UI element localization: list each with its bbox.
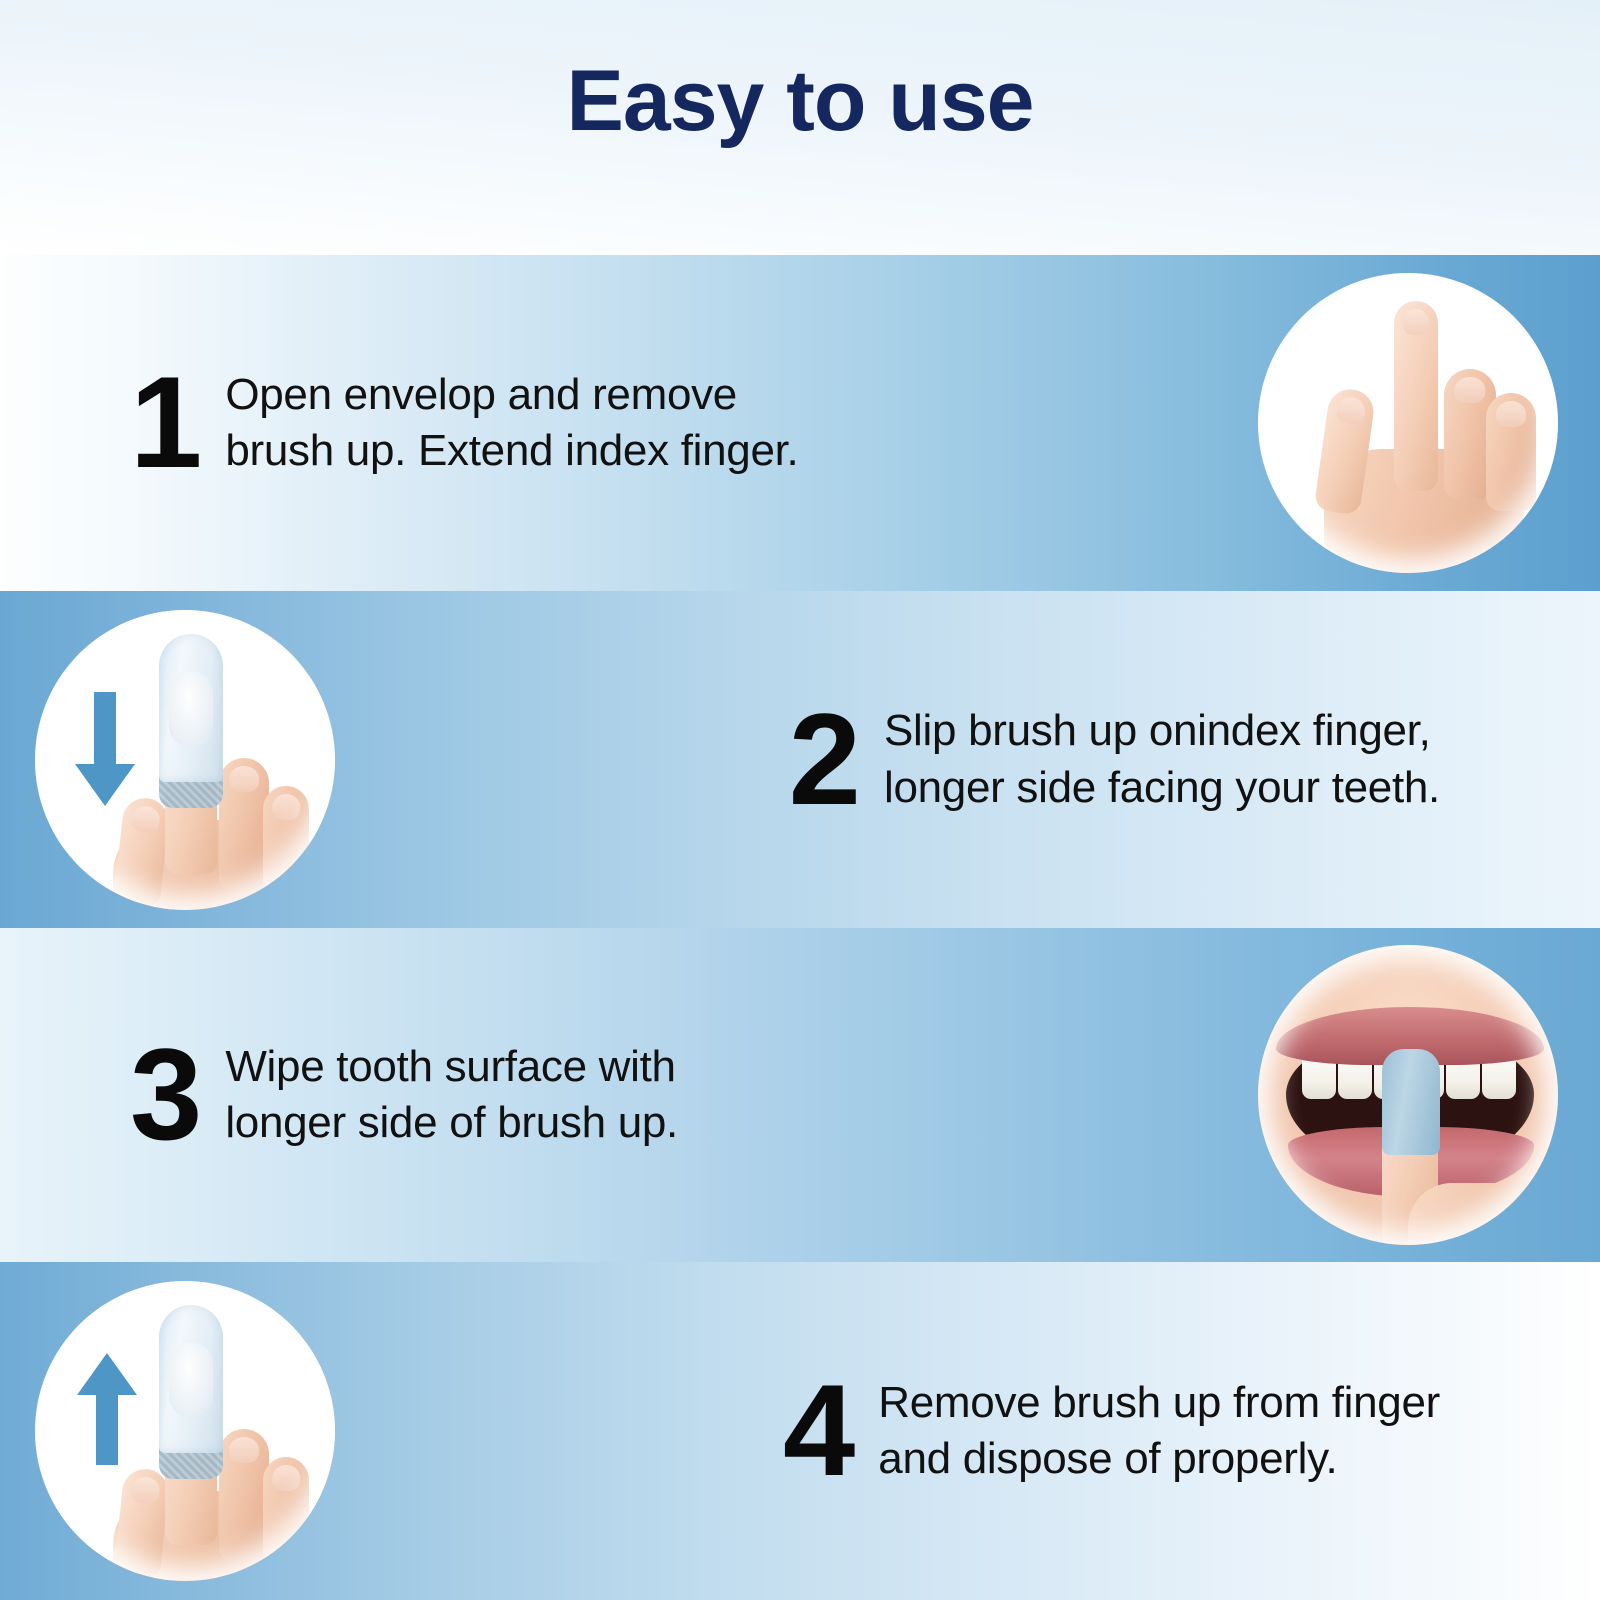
- brush-up-pad-shape: [169, 672, 213, 746]
- step-photo-4: [35, 1281, 335, 1581]
- brush-up-sleeve-shape: [159, 1305, 223, 1453]
- step-band-1: 1 Open envelop and remove brush up. Exte…: [0, 255, 1600, 591]
- step-row-3: 3 Wipe tooth surface with longer side of…: [0, 928, 1600, 1262]
- arrow-shaft: [96, 1391, 118, 1465]
- ring-finger-shape: [263, 786, 309, 896]
- nail-shape: [229, 766, 259, 792]
- step-instruction-3: Wipe tooth surface with longer side of b…: [225, 1039, 678, 1152]
- arrow-shaft: [94, 692, 116, 766]
- middle-finger-shape: [219, 1429, 269, 1561]
- brush-up-sleeve-shape: [1382, 1049, 1440, 1155]
- nail-shape: [229, 1437, 259, 1463]
- step-band-2: 2 Slip brush up onindex finger, longer s…: [0, 591, 1600, 928]
- step-row-2: 2 Slip brush up onindex finger, longer s…: [0, 591, 1600, 928]
- nail-shape: [130, 1476, 160, 1505]
- nail-shape: [130, 804, 160, 833]
- step-text-block-4: 4 Remove brush up from finger and dispos…: [783, 1371, 1440, 1491]
- index-finger-shape: [1394, 301, 1438, 491]
- hand-shape: [1408, 1183, 1558, 1245]
- step-row-1: 1 Open envelop and remove brush up. Exte…: [0, 255, 1600, 591]
- step-text-block-3: 3 Wipe tooth surface with longer side of…: [130, 1035, 678, 1155]
- step-photo-3: [1258, 945, 1558, 1245]
- middle-finger-shape: [219, 758, 269, 890]
- nail-shape: [272, 794, 300, 820]
- ring-finger-shape: [263, 1457, 309, 1567]
- nail-shape: [1496, 401, 1526, 427]
- arrow-up-icon: [77, 1353, 137, 1465]
- step-photo-1: [1258, 273, 1558, 573]
- brush-up-sleeve-shape: [159, 634, 223, 782]
- nail-shape: [1335, 396, 1366, 426]
- step-row-4: 4 Remove brush up from finger and dispos…: [0, 1262, 1600, 1600]
- step-instruction-2: Slip brush up onindex finger, longer sid…: [884, 703, 1440, 816]
- brush-up-pad-shape: [169, 1343, 213, 1417]
- step-band-4: 4 Remove brush up from finger and dispos…: [0, 1262, 1600, 1600]
- nail-shape: [272, 1465, 300, 1491]
- finger-sleeve-up-icon: [35, 1281, 335, 1581]
- arrow-down-icon: [75, 692, 135, 804]
- step-text-block-1: 1 Open envelop and remove brush up. Exte…: [130, 363, 798, 483]
- ring-finger-shape: [1486, 393, 1536, 511]
- arrow-head: [77, 1353, 137, 1395]
- page-title: Easy to use: [0, 58, 1600, 144]
- hand-index-finger-icon: [1258, 273, 1558, 573]
- finger-sleeve-down-icon: [35, 610, 335, 910]
- step-band-3: 3 Wipe tooth surface with longer side of…: [0, 928, 1600, 1262]
- mouth-teeth-finger-icon: [1258, 945, 1558, 1245]
- step-number-4: 4: [783, 1371, 852, 1491]
- step-number-2: 2: [789, 700, 858, 820]
- step-number-1: 1: [130, 363, 199, 483]
- arrow-head: [75, 764, 135, 806]
- poster-header: Easy to use: [0, 0, 1600, 255]
- step-instruction-4: Remove brush up from finger and dispose …: [878, 1375, 1440, 1488]
- step-photo-2: [35, 610, 335, 910]
- easy-to-use-infographic: Easy to use 1 Open envelop and remove br…: [0, 0, 1600, 1600]
- nail-shape: [1454, 377, 1485, 403]
- nail-shape: [1403, 309, 1429, 335]
- step-number-3: 3: [130, 1035, 199, 1155]
- step-instruction-1: Open envelop and remove brush up. Extend…: [225, 367, 798, 480]
- step-text-block-2: 2 Slip brush up onindex finger, longer s…: [789, 700, 1440, 820]
